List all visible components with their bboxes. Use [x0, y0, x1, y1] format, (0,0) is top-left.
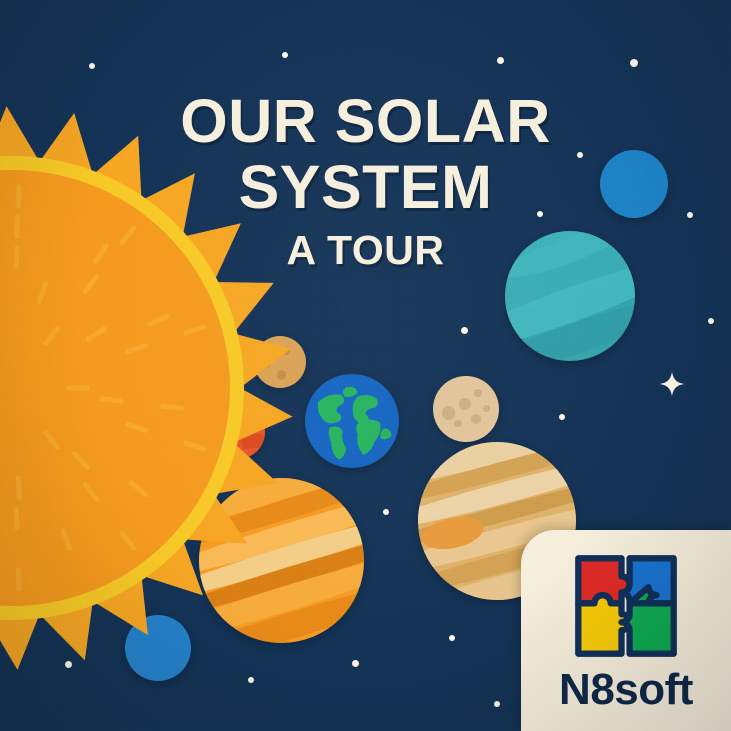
star-dot — [352, 660, 359, 667]
puzzle-icon — [572, 552, 680, 660]
brand-name: N8soft — [559, 668, 693, 712]
star-dot — [708, 318, 714, 324]
star-dot — [497, 57, 504, 64]
planet-moon — [433, 376, 499, 442]
sun-streak — [14, 245, 20, 269]
sun-streak — [14, 507, 20, 531]
star-dot — [559, 414, 565, 420]
earth-continents — [318, 387, 392, 460]
star-dot — [494, 701, 500, 707]
star-dot — [577, 152, 583, 158]
solar-system-poster: OUR SOLAR SYSTEM A TOUR N8soft — [0, 0, 731, 731]
sun-streak — [16, 184, 22, 208]
star-dot — [537, 211, 543, 217]
planet-neptune — [600, 150, 668, 218]
planet-uranus — [505, 231, 635, 361]
star-dot — [461, 327, 468, 334]
star-dot — [248, 677, 254, 683]
sun-streak — [16, 568, 22, 592]
planet-earth — [305, 374, 399, 468]
star-dot — [282, 52, 288, 58]
sun-streak — [14, 215, 20, 239]
star-dot — [449, 635, 455, 641]
brand-logo-card[interactable]: N8soft — [521, 530, 731, 731]
star-dot — [89, 63, 95, 69]
sun-illustration — [0, 108, 292, 668]
sun-streak — [65, 386, 89, 391]
star-dot — [630, 59, 638, 67]
sparkle-star-icon — [659, 371, 685, 397]
star-dot — [383, 509, 389, 515]
star-dot — [687, 212, 693, 218]
